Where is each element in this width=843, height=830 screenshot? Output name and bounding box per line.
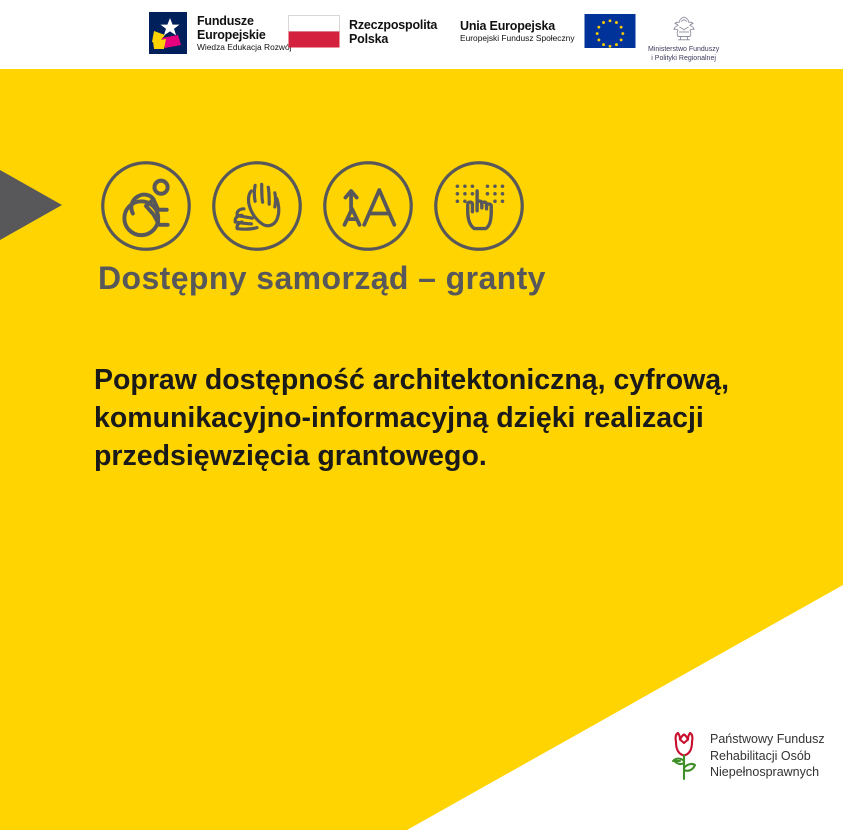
logo-fe-subtitle: Wiedza Edukacja Rozwój: [197, 43, 292, 52]
body-copy-line-3: przedsięwzięcia grantowego.: [94, 438, 714, 476]
logo-fundusze-europejskie: Fundusze Europejskie Wiedza Edukacja Roz…: [148, 11, 292, 55]
text-size-icon: [321, 159, 415, 253]
body-copy: Popraw dostępność architektoniczną, cyfr…: [94, 362, 714, 476]
pfron-tulip-logo: [668, 730, 702, 782]
eu-flag: [584, 14, 636, 48]
body-copy-line-1: Popraw dostępność architektoniczną, cyfr…: [94, 362, 714, 400]
logo-rzeczpospolita-polska: Rzeczpospolita Polska: [288, 15, 437, 48]
logo-pfron-line-1: Państwowy Fundusz: [710, 731, 825, 748]
logo-rp-title-line2: Polska: [349, 32, 437, 46]
logo-ue-title: Unia Europejska: [460, 19, 575, 33]
right-pointing-triangle-icon: [0, 170, 62, 240]
logo-ue-subtitle: Europejski Fundusz Społeczny: [460, 34, 575, 43]
logo-mfipr-caption-line2: i Polityki Regionalnej: [648, 55, 719, 64]
logo-pfron-line-3: Niepełnosprawnych: [710, 764, 825, 781]
logo-ue-text: Unia Europejska Europejski Fundusz Społe…: [460, 19, 575, 44]
logo-mfipr-caption-line1: Ministerstwo Funduszy: [648, 46, 719, 55]
logo-mfipr-caption: Ministerstwo Funduszy i Polityki Regiona…: [648, 46, 719, 64]
logo-fe-text: Fundusze Europejskie Wiedza Edukacja Roz…: [197, 14, 292, 53]
page-title: Dostępny samorząd – granty: [98, 260, 546, 297]
polish-flag: [288, 15, 340, 48]
polish-eagle-emblem: [667, 14, 701, 44]
logo-ministerstwo-funduszy: Ministerstwo Funduszy i Polityki Regiona…: [648, 14, 719, 64]
logo-unia-europejska: Unia Europejska Europejski Fundusz Społe…: [460, 14, 636, 48]
logo-rp-text: Rzeczpospolita Polska: [349, 18, 437, 46]
header-logo-bar: Fundusze Europejskie Wiedza Edukacja Roz…: [0, 0, 843, 69]
wheelchair-icon: [99, 159, 193, 253]
logo-pfron-text: Państwowy Fundusz Rehabilitacji Osób Nie…: [710, 731, 825, 781]
braille-touch-icon: [432, 159, 526, 253]
sign-language-hands-icon: [210, 159, 304, 253]
logo-pfron: Państwowy Fundusz Rehabilitacji Osób Nie…: [668, 730, 825, 782]
body-copy-line-2: komunikacyjno-informacyjną dzięki realiz…: [94, 400, 714, 438]
accessibility-icon-row: [99, 159, 526, 253]
logo-fe-title-line2: Europejskie: [197, 28, 292, 42]
logo-rp-title-line1: Rzeczpospolita: [349, 18, 437, 32]
poster-canvas: Fundusze Europejskie Wiedza Edukacja Roz…: [0, 0, 843, 830]
fundusze-europejskie-star-logo: [148, 11, 188, 55]
logo-fe-title-line1: Fundusze: [197, 14, 292, 28]
logo-pfron-line-2: Rehabilitacji Osób: [710, 748, 825, 765]
